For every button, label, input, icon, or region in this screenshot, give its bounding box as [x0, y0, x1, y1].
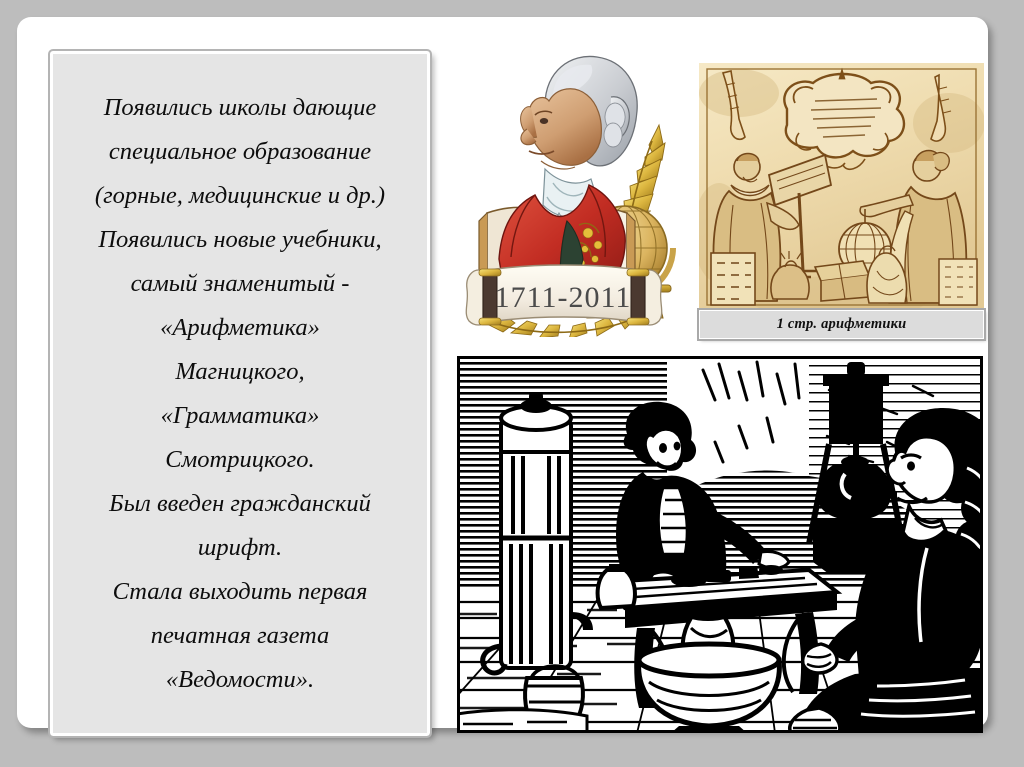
text-line: самый знаменитый -: [63, 262, 417, 306]
laboratory-engraving-image: [457, 356, 983, 733]
text-line: Был введен гражданский: [63, 482, 417, 526]
manuscript-caption-text: 1 стр. арифметики: [777, 316, 907, 333]
text-line: «Грамматика»: [63, 394, 417, 438]
text-panel-inner: Появились школы дающие специальное образ…: [53, 86, 427, 702]
text-line: «Ведомости».: [63, 658, 417, 702]
laboratory-engraving-graphic: [457, 356, 983, 733]
text-line: шрифт.: [63, 526, 417, 570]
arithmetic-frontispiece-image: [699, 63, 984, 310]
text-line: Смотрицкого.: [63, 438, 417, 482]
text-line: Стала выходить первая: [63, 570, 417, 614]
slide-surface: Появились школы дающие специальное образ…: [17, 17, 988, 728]
arithmetic-frontispiece-graphic: [699, 63, 984, 310]
text-line: Появились новые учебники,: [63, 218, 417, 262]
lomonosov-emblem-graphic: 1711-2011: [449, 45, 685, 337]
lomonosov-emblem-image: 1711-2011: [449, 45, 685, 337]
scroll-banner: 1711-2011: [466, 265, 661, 325]
manuscript-caption-box: 1 стр. арифметики: [699, 310, 984, 339]
text-line: специальное образование: [63, 130, 417, 174]
text-line: «Арифметика»: [63, 306, 417, 350]
text-line: Появились школы дающие: [63, 86, 417, 130]
text-line: Магницкого,: [63, 350, 417, 394]
lomonosov-portrait-icon: [521, 56, 638, 169]
text-content-panel: Появились школы дающие специальное образ…: [50, 51, 430, 736]
scroll-year-text: 1711-2011: [495, 281, 632, 314]
slide-root: Появились школы дающие специальное образ…: [0, 0, 1024, 767]
text-line: (горные, медицинские и др.): [63, 174, 417, 218]
text-line: печатная газета: [63, 614, 417, 658]
